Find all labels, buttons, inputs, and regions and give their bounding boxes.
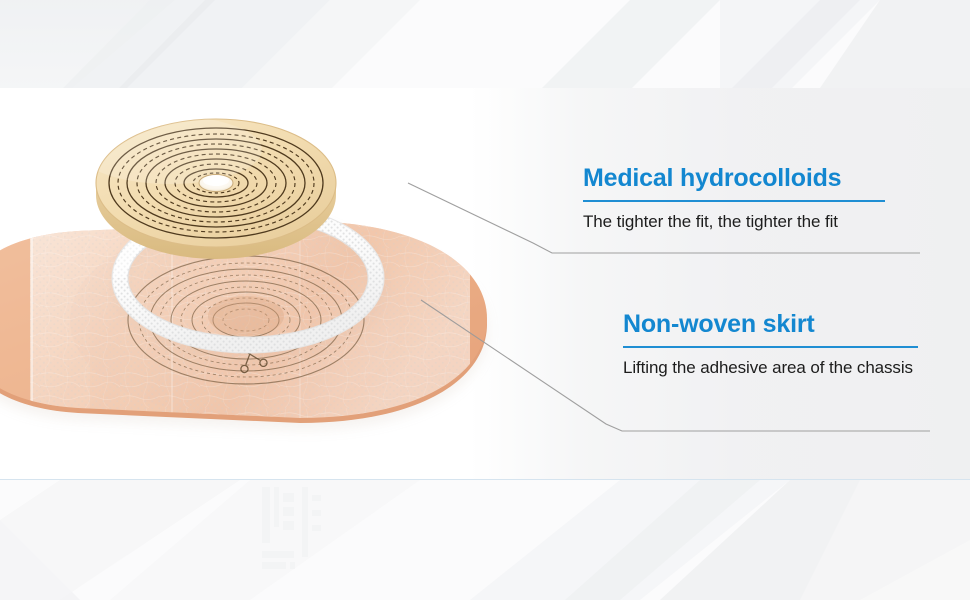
callout-nonwoven-skirt: Non-woven skirt Lifting the adhesive are…	[623, 312, 933, 380]
callout-hydrocolloids-rule	[583, 200, 885, 202]
callout-hydrocolloids-title: Medical hydrocolloids	[583, 166, 915, 191]
callout-nonwoven-skirt-body: Lifting the adhesive area of the chassis	[623, 357, 933, 380]
product-illustration	[0, 88, 600, 479]
callout-nonwoven-skirt-rule	[623, 346, 918, 348]
callout-hydrocolloids-body: The tighter the fit, the tighter the fit	[583, 211, 915, 234]
panel-bottom-rule	[0, 479, 970, 480]
callout-nonwoven-skirt-title: Non-woven skirt	[623, 312, 933, 337]
callout-hydrocolloids: Medical hydrocolloids The tighter the fi…	[583, 166, 915, 234]
infographic-canvas: Medical hydrocolloids The tighter the fi…	[0, 0, 970, 600]
